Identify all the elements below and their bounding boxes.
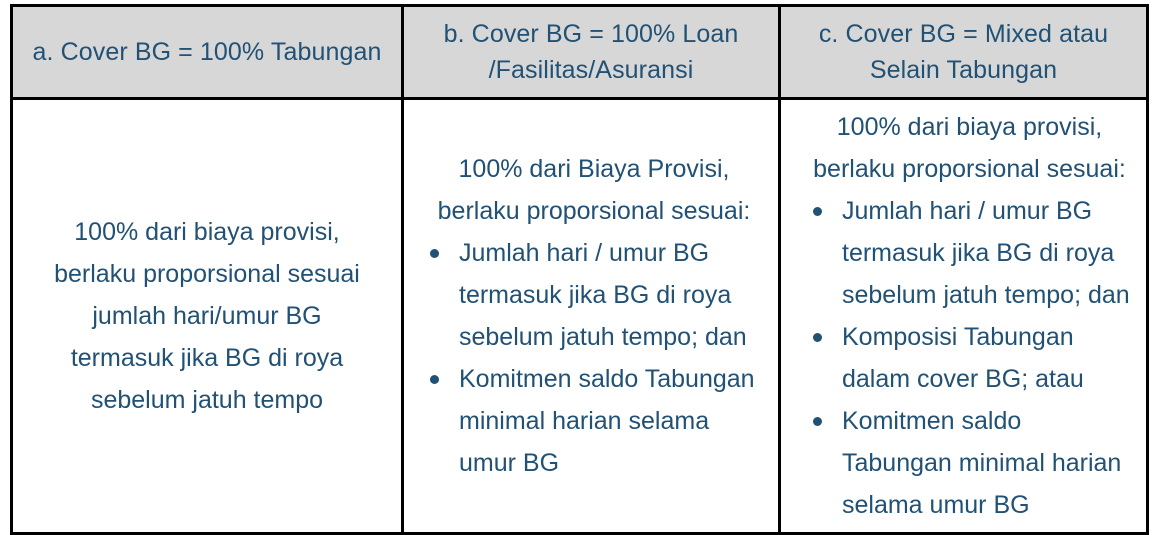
cell-b-content: 100% dari Biaya Provisi, berlaku propors… — [418, 148, 764, 484]
column-header-b-line-1: b. Cover BG = 100% Loan — [416, 16, 766, 52]
list-item-label: Jumlah hari / umur BG termasuk jika BG d… — [459, 232, 764, 358]
list-item-label: Komposisi Tabungan dalam cover BG; atau — [842, 316, 1132, 400]
cell-a-content: 100% dari biaya provisi, berlaku propors… — [27, 211, 387, 421]
bullet-dot-icon — [813, 207, 822, 216]
column-header-b-line-2: /Fasilitas/Asuransi — [416, 52, 766, 88]
list-item: Jumlah hari / umur BG termasuk jika BG d… — [424, 232, 764, 358]
cell-c-bullet-list: Jumlah hari / umur BG termasuk jika BG d… — [807, 190, 1132, 526]
bullet-dot-icon — [813, 333, 822, 342]
column-header-a: a. Cover BG = 100% Tabungan — [12, 6, 403, 99]
list-item-label: Komitmen saldo Tabungan minimal harian s… — [459, 358, 764, 484]
bullet-dot-icon — [813, 417, 822, 426]
cell-column-a: 100% dari biaya provisi, berlaku propors… — [12, 99, 403, 534]
list-item-label: Komitmen saldo Tabungan minimal harian s… — [842, 400, 1132, 526]
cell-column-c: 100% dari biaya provisi, berlaku propors… — [780, 99, 1148, 534]
cell-b-bullet-list: Jumlah hari / umur BG termasuk jika BG d… — [424, 232, 764, 484]
comparison-table-container: a. Cover BG = 100% Tabungan b. Cover BG … — [10, 4, 1146, 513]
table-body-row: 100% dari biaya provisi, berlaku propors… — [12, 99, 1148, 534]
cell-c-lead-text: 100% dari biaya provisi, berlaku propors… — [807, 106, 1132, 190]
column-header-c: c. Cover BG = Mixed atau Selain Tabungan — [780, 6, 1148, 99]
cover-bg-provision-table: a. Cover BG = 100% Tabungan b. Cover BG … — [10, 4, 1149, 535]
bullet-dot-icon — [430, 249, 439, 258]
table-header-row: a. Cover BG = 100% Tabungan b. Cover BG … — [12, 6, 1148, 99]
list-item: Jumlah hari / umur BG termasuk jika BG d… — [807, 190, 1132, 316]
list-item-label: Jumlah hari / umur BG termasuk jika BG d… — [842, 190, 1132, 316]
cell-b-lead-text: 100% dari Biaya Provisi, berlaku propors… — [424, 148, 764, 232]
cell-c-content: 100% dari biaya provisi, berlaku propors… — [795, 106, 1132, 526]
column-header-b: b. Cover BG = 100% Loan /Fasilitas/Asura… — [403, 6, 780, 99]
cell-a-lead-text: 100% dari biaya provisi, berlaku propors… — [33, 211, 381, 421]
column-header-c-line-2: Selain Tabungan — [793, 52, 1134, 88]
cell-column-b: 100% dari Biaya Provisi, berlaku propors… — [403, 99, 780, 534]
column-header-c-line-1: c. Cover BG = Mixed atau — [793, 16, 1134, 52]
bullet-dot-icon — [430, 375, 439, 384]
list-item: Komitmen saldo Tabungan minimal harian s… — [807, 400, 1132, 526]
column-header-a-line-1: a. Cover BG = 100% Tabungan — [25, 34, 389, 70]
list-item: Komitmen saldo Tabungan minimal harian s… — [424, 358, 764, 484]
list-item: Komposisi Tabungan dalam cover BG; atau — [807, 316, 1132, 400]
